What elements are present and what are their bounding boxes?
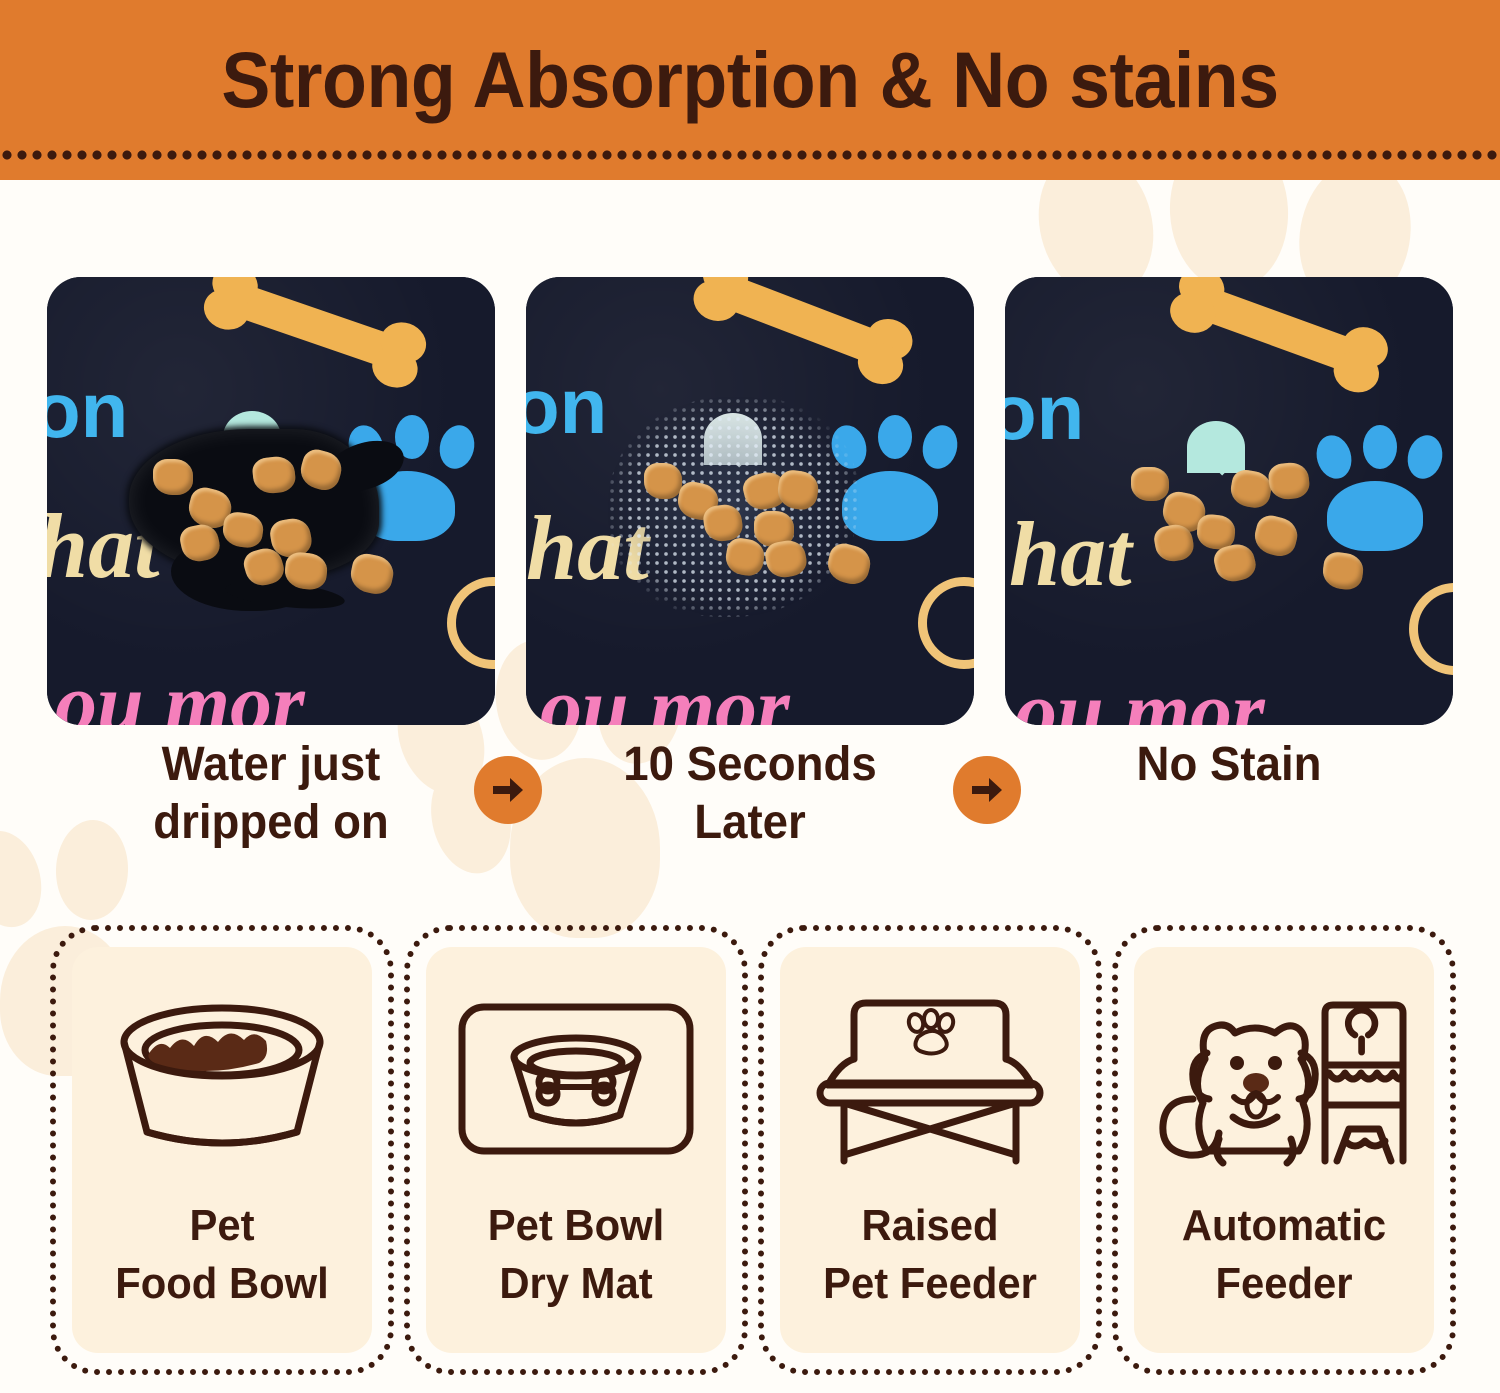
use-case-card-automatic-feeder[interactable]: Automatic Feeder — [1112, 925, 1456, 1375]
absorption-demo-strip: on hat ou mor — [0, 277, 1500, 725]
raised-pet-feeder-icon — [758, 971, 1102, 1186]
caption-line-2: dripped on — [58, 794, 484, 852]
card-label-raised-pet-feeder: Raised Pet Feeder — [767, 1197, 1094, 1313]
card-label-line-2: Pet Feeder — [767, 1255, 1094, 1313]
card-label-line-1: Pet — [59, 1197, 386, 1255]
mat-word-on: on — [526, 361, 607, 452]
card-label-pet-food-bowl: Pet Food Bowl — [59, 1197, 386, 1313]
demo-photo-ten-seconds-later: on hat ou mor — [526, 277, 974, 725]
caption-no-stain: No Stain — [1016, 736, 1442, 794]
mat-word-pink: ou mor — [55, 655, 305, 725]
caption-line-1: Water just — [58, 736, 484, 794]
pet-bowl-dry-mat-icon — [404, 971, 748, 1186]
pet-food-bowl-icon — [50, 971, 394, 1186]
water-spill — [125, 415, 385, 615]
card-label-line-2: Food Bowl — [59, 1255, 386, 1313]
mat-word-pink: ou mor — [540, 659, 790, 725]
use-case-card-pet-bowl-dry-mat[interactable]: Pet Bowl Dry Mat — [404, 925, 748, 1375]
mat-paw-graphic — [1293, 429, 1453, 569]
kibble — [1131, 467, 1169, 501]
infographic-page: Strong Absorption & No stains on hat ou … — [0, 0, 1500, 1393]
demo-captions: Water just dripped on 10 Seconds Later N… — [0, 736, 1500, 861]
header-banner: Strong Absorption & No stains — [0, 0, 1500, 180]
demo-photo-no-stain: on hat ou mor — [1005, 277, 1453, 725]
mat-heart-graphic — [1187, 421, 1245, 473]
mat-word-pink: ou mor — [1015, 663, 1265, 725]
card-label-line-1: Automatic — [1121, 1197, 1448, 1255]
automatic-feeder-icon — [1112, 971, 1456, 1186]
page-title: Strong Absorption & No stains — [53, 34, 1448, 126]
mat-word-hat: hat — [1009, 501, 1132, 607]
kibble — [153, 459, 193, 495]
use-case-cards: Pet Food Bowl — [0, 925, 1500, 1385]
card-label-line-2: Feeder — [1121, 1255, 1448, 1313]
banner-dotted-divider — [0, 148, 1500, 162]
mat-word-on: on — [1005, 367, 1084, 458]
caption-line-1: No Stain — [1016, 736, 1442, 794]
caption-line-2: Later — [537, 794, 963, 852]
use-case-card-pet-food-bowl[interactable]: Pet Food Bowl — [50, 925, 394, 1375]
caption-ten-seconds-later: 10 Seconds Later — [537, 736, 963, 852]
kibble — [644, 463, 682, 499]
mat-word-on: on — [47, 365, 128, 456]
caption-line-1: 10 Seconds — [537, 736, 963, 794]
card-label-line-2: Dry Mat — [413, 1255, 740, 1313]
card-label-line-1: Raised — [767, 1197, 1094, 1255]
caption-water-just-dripped-on: Water just dripped on — [58, 736, 484, 852]
card-label-line-1: Pet Bowl — [413, 1197, 740, 1255]
use-case-card-raised-pet-feeder[interactable]: Raised Pet Feeder — [758, 925, 1102, 1375]
card-label-automatic-feeder: Automatic Feeder — [1121, 1197, 1448, 1313]
card-label-pet-bowl-dry-mat: Pet Bowl Dry Mat — [413, 1197, 740, 1313]
demo-photo-water-just-dripped-on: on hat ou mor — [47, 277, 495, 725]
